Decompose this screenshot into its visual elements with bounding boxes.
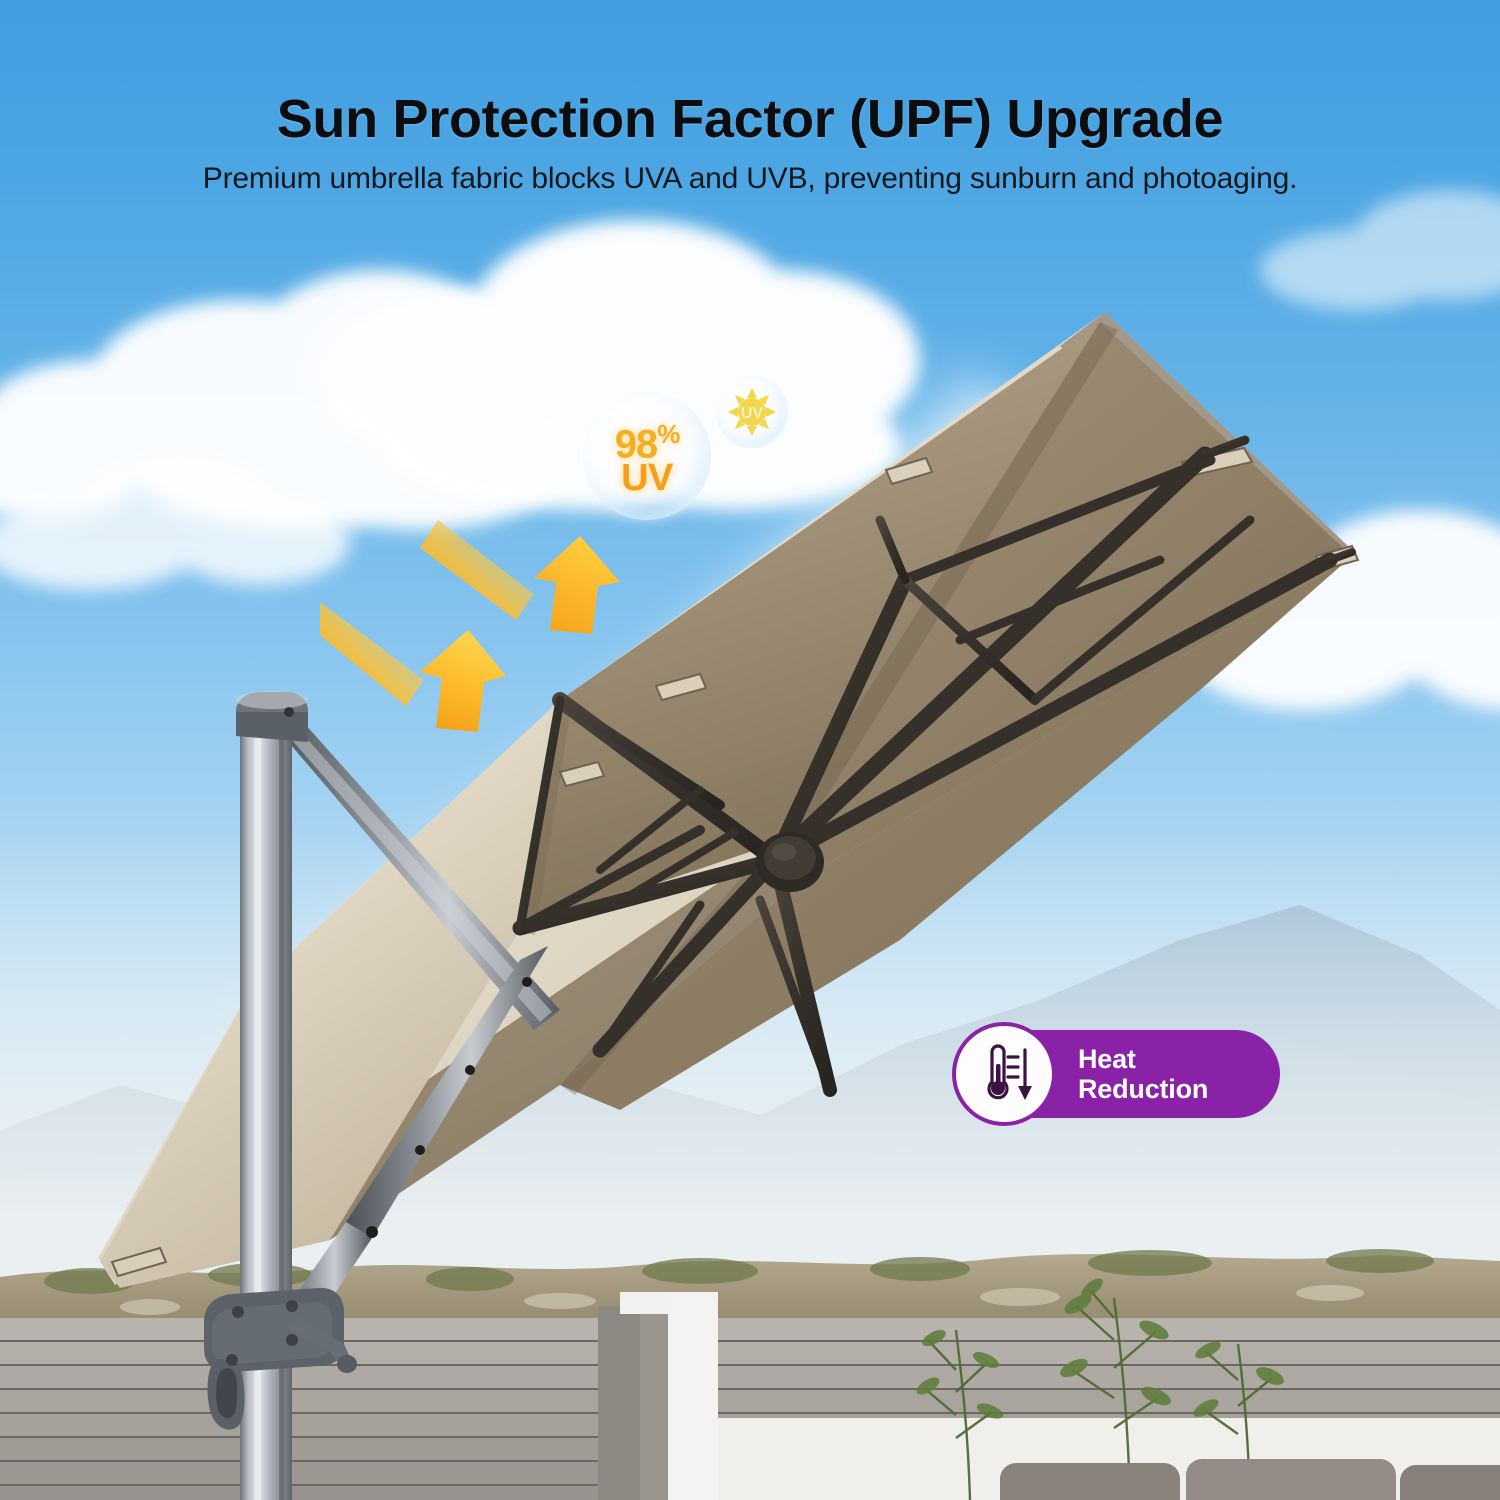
page-subtitle: Premium umbrella fabric blocks UVA and U…: [0, 162, 1500, 196]
heat-reduction-badge: Heat Reduction: [952, 1022, 1208, 1126]
product-feature-image: 98% UV UV Sun Protection Factor (UPF) Up…: [0, 0, 1500, 1500]
uv-arrow-upper: [420, 520, 620, 634]
uv-percent-bubble: [583, 392, 711, 520]
heat-reduction-icon-circle: [952, 1022, 1056, 1126]
uv-arrow-lower: [320, 602, 506, 732]
sun-icon-label: UV: [741, 405, 764, 422]
umbrella-pole: [240, 730, 292, 1500]
umbrella-hub: [756, 832, 824, 892]
thermometer-down-icon: [974, 1040, 1034, 1108]
page-title: Sun Protection Factor (UPF) Upgrade: [0, 88, 1500, 150]
heat-reduction-line2: Reduction: [1078, 1074, 1208, 1104]
sun-icon: UV: [726, 386, 778, 438]
heat-reduction-text: Heat Reduction: [1078, 1044, 1208, 1104]
heat-reduction-line1: Heat: [1078, 1044, 1208, 1074]
uv-ray-arrows: [320, 520, 640, 740]
pole-top-housing: [236, 691, 308, 742]
cantilever-umbrella: [0, 0, 1500, 1500]
